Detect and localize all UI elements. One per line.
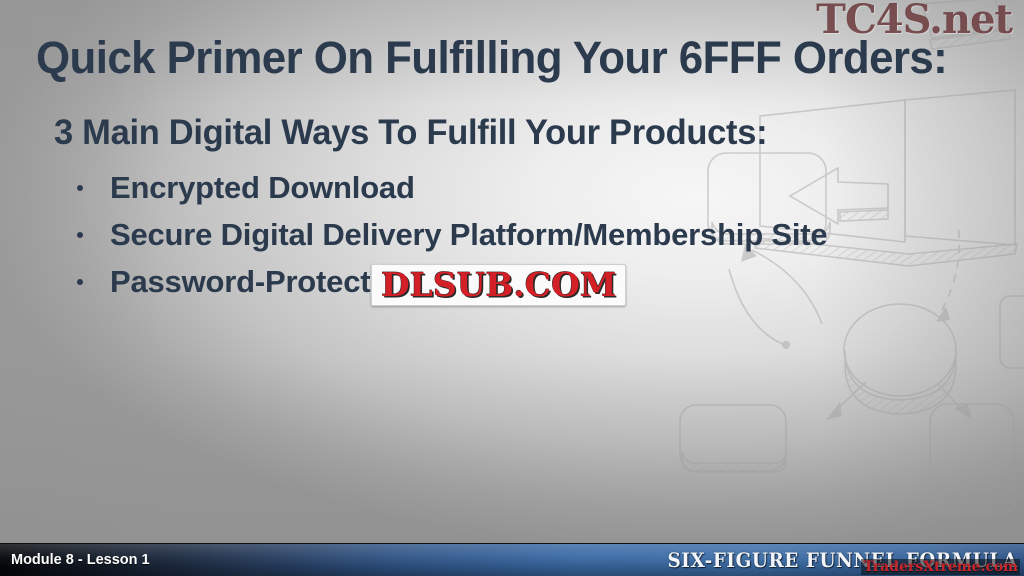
lesson-label: Module 8 - Lesson 1 <box>11 552 150 568</box>
slide-canvas: TC4S.net Quick Primer On Fulfilling Your… <box>0 0 1024 576</box>
tradersxtreme-watermark: TradersXtreme.com <box>861 559 1020 575</box>
footer-bar: Module 8 - Lesson 1 SIX-FIGURE FUNNEL FO… <box>0 543 1024 576</box>
slide-subheading: 3 Main Digital Ways To Fulfill Your Prod… <box>54 113 767 153</box>
bullet-dot-icon <box>77 185 83 191</box>
slide-title: Quick Primer On Fulfilling Your 6FFF Ord… <box>36 32 972 84</box>
bullet-dot-icon <box>77 279 83 285</box>
list-item: Secure Digital Delivery Platform/Members… <box>68 211 998 258</box>
bullet-dot-icon <box>77 232 83 238</box>
dlsub-watermark: DLSUB.COM <box>371 264 626 306</box>
list-item: Encrypted Download <box>68 164 998 211</box>
bullet-text: Encrypted Download <box>110 170 415 205</box>
bullet-text: Secure Digital Delivery Platform/Members… <box>110 217 827 252</box>
